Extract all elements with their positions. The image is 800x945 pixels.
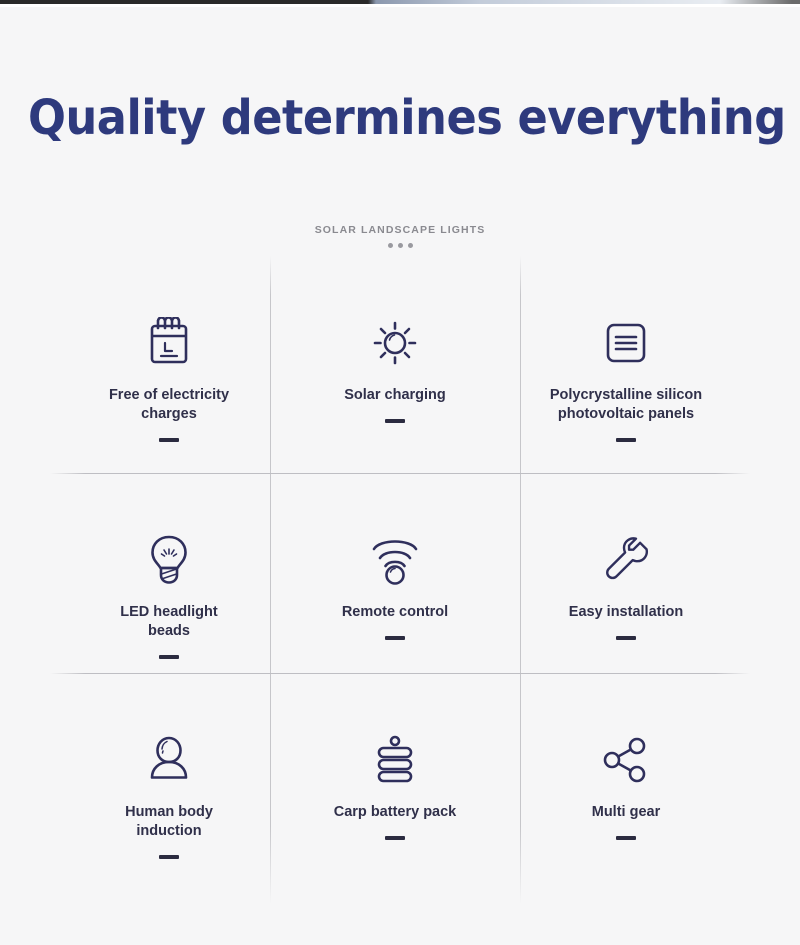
- feature-dash: [159, 438, 179, 442]
- wrench-icon: [601, 531, 651, 589]
- feature-dash: [616, 438, 636, 442]
- feature-label: Human body induction: [125, 803, 213, 841]
- feature-cell-free-of-electricity-charges: Free of electricity charges: [68, 256, 270, 473]
- feature-label: Easy installation: [569, 603, 683, 622]
- share-nodes-icon: [601, 731, 651, 789]
- feature-cell-easy-installation: Easy installation: [520, 473, 732, 673]
- feature-cell-carp-battery-pack: Carp battery pack: [270, 673, 520, 901]
- feature-grid: Free of electricity charges Solar chargi…: [68, 256, 732, 901]
- sun-icon: [370, 314, 420, 372]
- notepad-icon: [146, 314, 192, 372]
- dot-3: [408, 243, 413, 248]
- feature-cell-solar-charging: Solar charging: [270, 256, 520, 473]
- dot-2: [398, 243, 403, 248]
- feature-label: Multi gear: [592, 803, 660, 822]
- lightbulb-icon: [147, 531, 191, 589]
- feature-label: Carp battery pack: [334, 803, 457, 822]
- feature-label: LED headlight beads: [120, 603, 217, 641]
- page-title: Quality determines everything: [28, 88, 772, 148]
- feature-cell-photovoltaic-panels: Polycrystalline silicon photovoltaic pan…: [520, 256, 732, 473]
- wireless-signal-icon: [370, 531, 420, 589]
- feature-cell-multi-gear: Multi gear: [520, 673, 732, 901]
- top-edge-strip-under: [0, 4, 800, 7]
- eyebrow-dots: [0, 243, 800, 248]
- feature-dash: [159, 855, 179, 859]
- section-eyebrow: SOLAR LANDSCAPE LIGHTS: [0, 224, 800, 236]
- feature-cell-remote-control: Remote control: [270, 473, 520, 673]
- feature-dash: [616, 636, 636, 640]
- feature-label: Polycrystalline silicon photovoltaic pan…: [550, 386, 702, 424]
- battery-stack-icon: [371, 731, 419, 789]
- feature-dash: [616, 836, 636, 840]
- dot-1: [388, 243, 393, 248]
- feature-dash: [385, 836, 405, 840]
- feature-cell-led-headlight-beads: LED headlight beads: [68, 473, 270, 673]
- panel-lines-icon: [602, 314, 650, 372]
- feature-dash: [159, 655, 179, 659]
- feature-label: Free of electricity charges: [109, 386, 229, 424]
- feature-dash: [385, 419, 405, 423]
- feature-dash: [385, 636, 405, 640]
- feature-cell-human-body-induction: Human body induction: [68, 673, 270, 901]
- feature-label: Remote control: [342, 603, 448, 622]
- feature-label: Solar charging: [344, 386, 446, 405]
- person-icon: [147, 731, 191, 789]
